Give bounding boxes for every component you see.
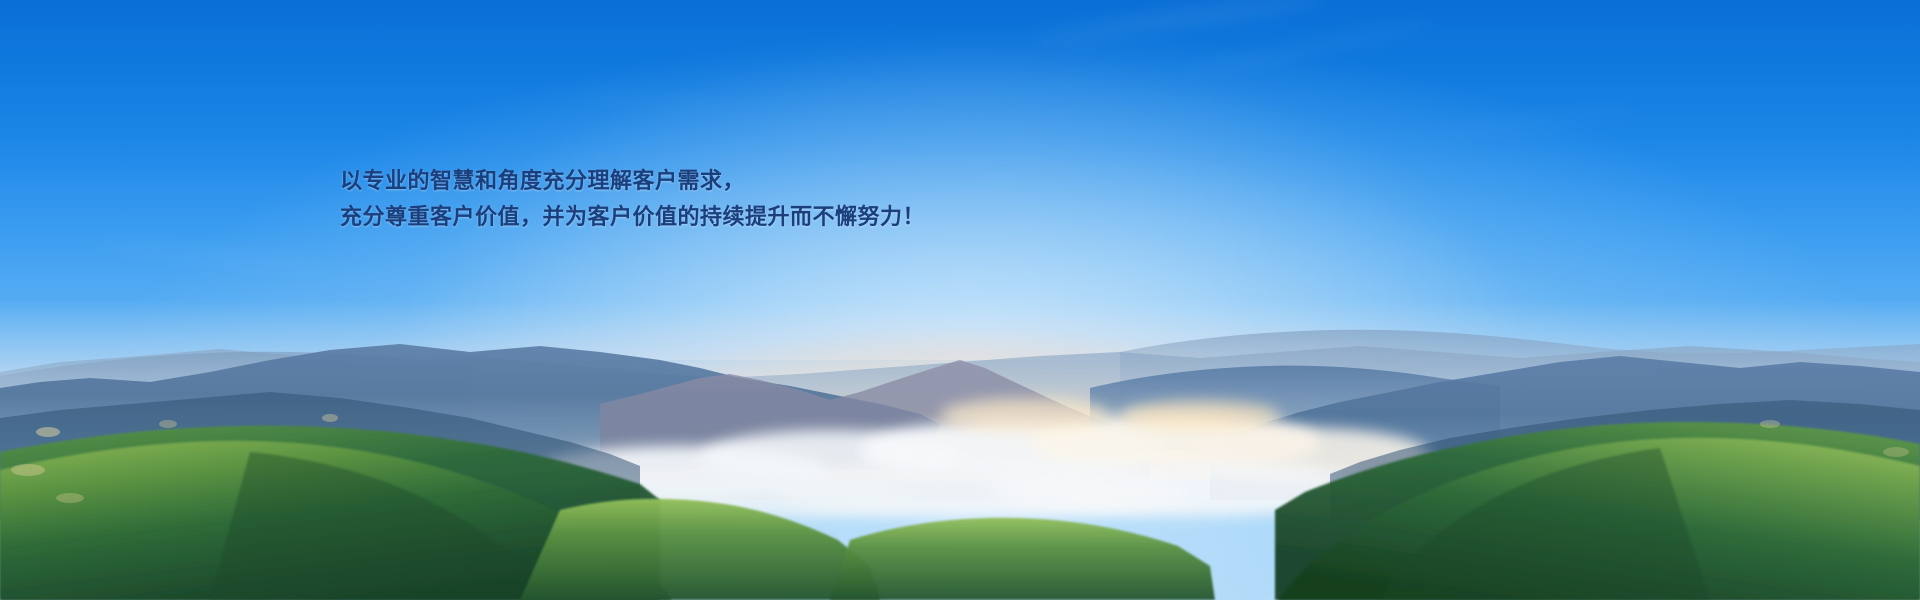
mountain-layer-mid xyxy=(0,0,1920,600)
cirrus-cloud-streak xyxy=(90,237,330,271)
mountain-layer-near xyxy=(0,0,1920,600)
horizon-haze xyxy=(0,300,1920,420)
hero-banner: 以专业的智慧和角度充分理解客户需求， 充分尊重客户价值，并为客户价值的持续提升而… xyxy=(0,0,1920,600)
page-title: 以专业的智慧和角度充分理解客户需求， 充分尊重客户价值，并为客户价值的持续提升而… xyxy=(340,163,1140,235)
headline-line-1: 以专业的智慧和角度充分理解客户需求， xyxy=(340,163,1140,199)
cirrus-cloud-streak xyxy=(560,90,740,109)
mountain-layer-far xyxy=(0,0,1920,600)
cirrus-cloud-streak xyxy=(1430,107,1640,136)
cirrus-cloud-streak xyxy=(1031,0,1329,45)
cirrus-cloud-streak xyxy=(1182,19,1439,76)
headline-line-2: 充分尊重客户价值，并为客户价值的持续提升而不懈努力！ xyxy=(340,199,1140,235)
sunrise-glow xyxy=(0,250,1920,480)
foreground-forest-ridges xyxy=(0,0,1920,600)
sea-of-clouds xyxy=(560,404,1390,524)
